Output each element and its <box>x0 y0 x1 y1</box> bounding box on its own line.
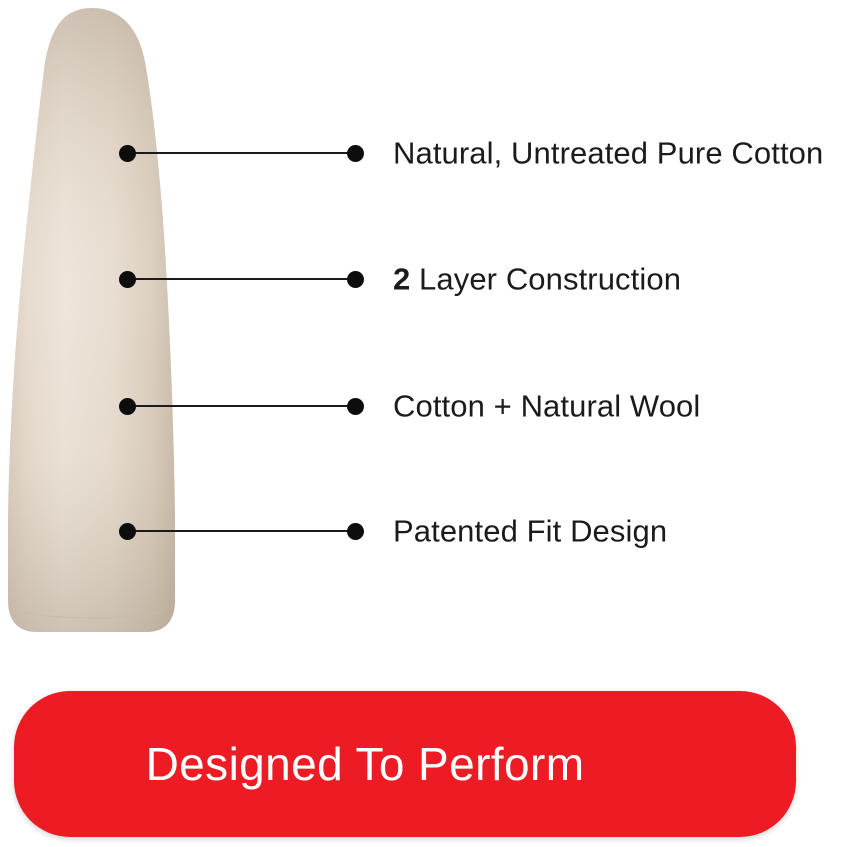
feature-label-1: Natural, Untreated Pure Cotton <box>393 138 823 169</box>
feature-label-2-number: 2 <box>393 262 410 297</box>
leader-dot-anchor <box>119 398 136 415</box>
feature-label-2-text: Layer Construction <box>410 262 681 297</box>
leader-dot-label <box>347 145 364 162</box>
leader-line <box>127 278 355 280</box>
leader-line <box>127 152 355 154</box>
designed-to-perform-banner: Designed To Perform <box>14 691 796 837</box>
leader-dot-anchor <box>119 145 136 162</box>
leader-line <box>127 530 355 532</box>
leader-dot-label <box>347 271 364 288</box>
leader-dot-anchor <box>119 523 136 540</box>
ironing-board-cover-image <box>0 0 260 660</box>
leader-dot-anchor <box>119 271 136 288</box>
product-feature-infographic: Natural, Untreated Pure Cotton 2 Layer C… <box>0 0 847 847</box>
feature-label-4: Patented Fit Design <box>393 516 667 547</box>
feature-label-3: Cotton + Natural Wool <box>393 391 700 422</box>
banner-text: Designed To Perform <box>146 741 585 787</box>
leader-dot-label <box>347 523 364 540</box>
leader-line <box>127 405 355 407</box>
leader-dot-label <box>347 398 364 415</box>
feature-label-2: 2 Layer Construction <box>393 264 681 295</box>
